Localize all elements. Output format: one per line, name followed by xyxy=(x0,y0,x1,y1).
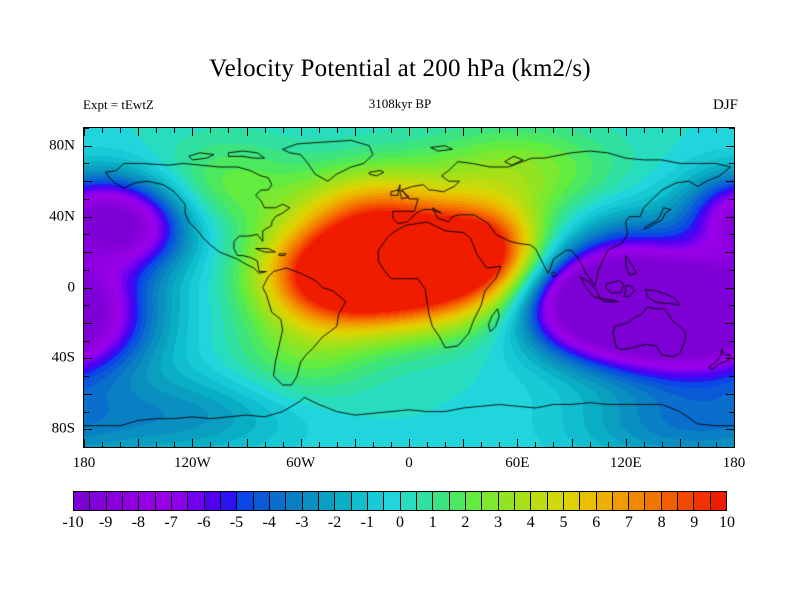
colorbar-cell xyxy=(499,492,515,510)
axis-tick xyxy=(734,439,735,447)
colorbar-cell xyxy=(515,492,531,510)
colorbar-cell xyxy=(286,492,302,510)
axis-tick xyxy=(626,439,627,447)
colorbar-cell xyxy=(417,492,433,510)
axis-tick xyxy=(716,442,717,447)
axis-tick xyxy=(481,442,482,447)
axis-tick xyxy=(535,442,536,447)
axis-tick xyxy=(409,439,410,447)
colorbar-cell xyxy=(172,492,188,510)
axis-tick xyxy=(373,442,374,447)
axis-tick xyxy=(192,128,193,136)
x-axis-label: 180 xyxy=(699,455,769,472)
axis-tick xyxy=(174,442,175,447)
axis-tick xyxy=(726,429,734,430)
axis-tick xyxy=(726,358,734,359)
axis-tick xyxy=(301,128,302,136)
colorbar-cell xyxy=(319,492,335,510)
colorbar-cell xyxy=(90,492,106,510)
colorbar-cell xyxy=(613,492,629,510)
axis-tick xyxy=(174,128,175,133)
colorbar-cell xyxy=(433,492,449,510)
y-axis-label: 0 xyxy=(23,279,75,296)
axis-tick xyxy=(572,439,573,447)
colorbar-cell xyxy=(254,492,270,510)
colorbar-cell xyxy=(466,492,482,510)
axis-tick xyxy=(156,128,157,133)
axis-tick xyxy=(716,128,717,133)
x-axis-label: 120W xyxy=(157,455,227,472)
colorbar-cell xyxy=(107,492,123,510)
axis-tick xyxy=(192,439,193,447)
axis-tick xyxy=(726,181,734,182)
axis-tick xyxy=(729,412,734,413)
axis-tick xyxy=(84,439,85,447)
colorbar-cell xyxy=(237,492,253,510)
axis-tick xyxy=(445,442,446,447)
colorbar-cell xyxy=(188,492,204,510)
colorbar-cell xyxy=(123,492,139,510)
axis-tick xyxy=(734,128,735,136)
axis-tick xyxy=(726,252,734,253)
colorbar-cell xyxy=(384,492,400,510)
axis-tick xyxy=(662,128,663,133)
axis-tick xyxy=(729,128,734,129)
x-axis-label: 60E xyxy=(482,455,552,472)
axis-tick xyxy=(391,128,392,133)
axis-tick xyxy=(84,376,89,377)
axis-tick xyxy=(247,128,248,136)
axis-tick xyxy=(729,163,734,164)
axis-tick xyxy=(608,128,609,133)
y-axis-label: 80S xyxy=(23,421,75,438)
axis-tick xyxy=(499,128,500,133)
axis-tick xyxy=(427,442,428,447)
axis-tick xyxy=(729,376,734,377)
x-axis-label: 60W xyxy=(266,455,336,472)
axis-tick xyxy=(726,323,734,324)
axis-tick xyxy=(726,288,734,289)
axis-tick xyxy=(644,128,645,133)
axis-tick xyxy=(729,270,734,271)
axis-tick xyxy=(138,128,139,136)
axis-tick xyxy=(247,439,248,447)
colorbar-cell xyxy=(270,492,286,510)
axis-tick xyxy=(481,128,482,133)
axis-tick xyxy=(84,358,92,359)
axis-tick xyxy=(463,439,464,447)
colorbar-cell xyxy=(694,492,710,510)
axis-tick xyxy=(517,128,518,136)
axis-tick xyxy=(517,439,518,447)
axis-tick xyxy=(355,128,356,136)
axis-tick xyxy=(102,128,103,133)
y-axis-label: 40S xyxy=(23,350,75,367)
axis-tick xyxy=(120,442,121,447)
axis-tick xyxy=(84,429,92,430)
colorbar-tick-label: 10 xyxy=(697,514,757,532)
colorbar-cell xyxy=(450,492,466,510)
axis-tick xyxy=(726,146,734,147)
axis-tick xyxy=(319,128,320,133)
axis-tick xyxy=(535,128,536,133)
colorbar-cell xyxy=(303,492,319,510)
axis-tick xyxy=(84,252,92,253)
axis-tick xyxy=(84,234,89,235)
axis-tick xyxy=(265,442,266,447)
axis-tick xyxy=(698,442,699,447)
axis-tick xyxy=(210,128,211,133)
axis-tick xyxy=(590,442,591,447)
axis-tick xyxy=(427,128,428,133)
colorbar-cell xyxy=(531,492,547,510)
axis-tick xyxy=(553,442,554,447)
axis-tick xyxy=(84,199,89,200)
colorbar-cell xyxy=(580,492,596,510)
colorbar-cell xyxy=(205,492,221,510)
axis-tick xyxy=(680,439,681,447)
axis-tick xyxy=(210,442,211,447)
axis-tick xyxy=(373,128,374,133)
figure-canvas: Velocity Potential at 200 hPa (km2/s) 31… xyxy=(0,0,800,600)
colorbar-cell xyxy=(597,492,613,510)
axis-tick xyxy=(156,442,157,447)
axis-tick xyxy=(84,447,89,448)
x-axis-label: 120E xyxy=(591,455,661,472)
colorbar-cell xyxy=(156,492,172,510)
y-axis-label: 80N xyxy=(23,137,75,154)
axis-tick xyxy=(84,341,89,342)
axis-tick xyxy=(301,439,302,447)
axis-tick xyxy=(729,199,734,200)
axis-tick xyxy=(698,128,699,133)
axis-tick xyxy=(590,128,591,133)
axis-tick xyxy=(463,128,464,136)
axis-tick xyxy=(644,442,645,447)
axis-tick xyxy=(726,394,734,395)
colorbar-cell xyxy=(335,492,351,510)
axis-tick xyxy=(84,128,89,129)
axis-tick xyxy=(84,181,92,182)
axis-tick xyxy=(84,305,89,306)
axis-tick xyxy=(265,128,266,133)
axis-tick xyxy=(572,128,573,136)
axis-tick xyxy=(499,442,500,447)
axis-tick xyxy=(84,412,89,413)
colorbar-cell xyxy=(645,492,661,510)
axis-tick xyxy=(608,442,609,447)
axis-tick xyxy=(84,270,89,271)
colorbar-cell xyxy=(139,492,155,510)
x-axis-label: 180 xyxy=(49,455,119,472)
axis-tick xyxy=(84,323,92,324)
axis-tick xyxy=(729,234,734,235)
axis-tick xyxy=(84,394,92,395)
axis-tick xyxy=(680,128,681,136)
colorbar-cell xyxy=(482,492,498,510)
colorbar-cell xyxy=(564,492,580,510)
axis-tick xyxy=(120,128,121,133)
axis-tick xyxy=(553,128,554,133)
colorbar-cell xyxy=(662,492,678,510)
axis-tick xyxy=(228,128,229,133)
axis-tick xyxy=(283,128,284,133)
axis-tick xyxy=(84,146,92,147)
colorbar-cell xyxy=(221,492,237,510)
axis-tick xyxy=(445,128,446,133)
y-axis-label: 40N xyxy=(23,208,75,225)
axis-tick xyxy=(228,442,229,447)
colorbar-cell xyxy=(401,492,417,510)
colorbar-cell xyxy=(548,492,564,510)
axis-tick xyxy=(337,442,338,447)
colorbar-cell xyxy=(368,492,384,510)
colorbar-cell xyxy=(711,492,726,510)
axis-tick xyxy=(409,128,410,136)
axis-tick xyxy=(662,442,663,447)
axis-tick xyxy=(319,442,320,447)
x-axis-label: 0 xyxy=(374,455,444,472)
axis-tick xyxy=(729,305,734,306)
axis-tick xyxy=(283,442,284,447)
colorbar xyxy=(73,491,727,511)
axis-tick xyxy=(729,341,734,342)
colorbar-cell xyxy=(629,492,645,510)
axis-tick xyxy=(355,439,356,447)
axis-tick xyxy=(391,442,392,447)
colorbar-cell xyxy=(678,492,694,510)
axis-tick xyxy=(729,447,734,448)
axis-tick xyxy=(84,163,89,164)
axis-tick xyxy=(84,128,85,136)
axis-tick xyxy=(102,442,103,447)
colorbar-cell xyxy=(74,492,90,510)
axis-tick xyxy=(726,217,734,218)
axis-tick xyxy=(84,288,92,289)
colorbar-cell xyxy=(352,492,368,510)
axis-tick xyxy=(138,439,139,447)
axis-tick xyxy=(84,217,92,218)
axis-tick xyxy=(337,128,338,133)
axis-tick xyxy=(626,128,627,136)
